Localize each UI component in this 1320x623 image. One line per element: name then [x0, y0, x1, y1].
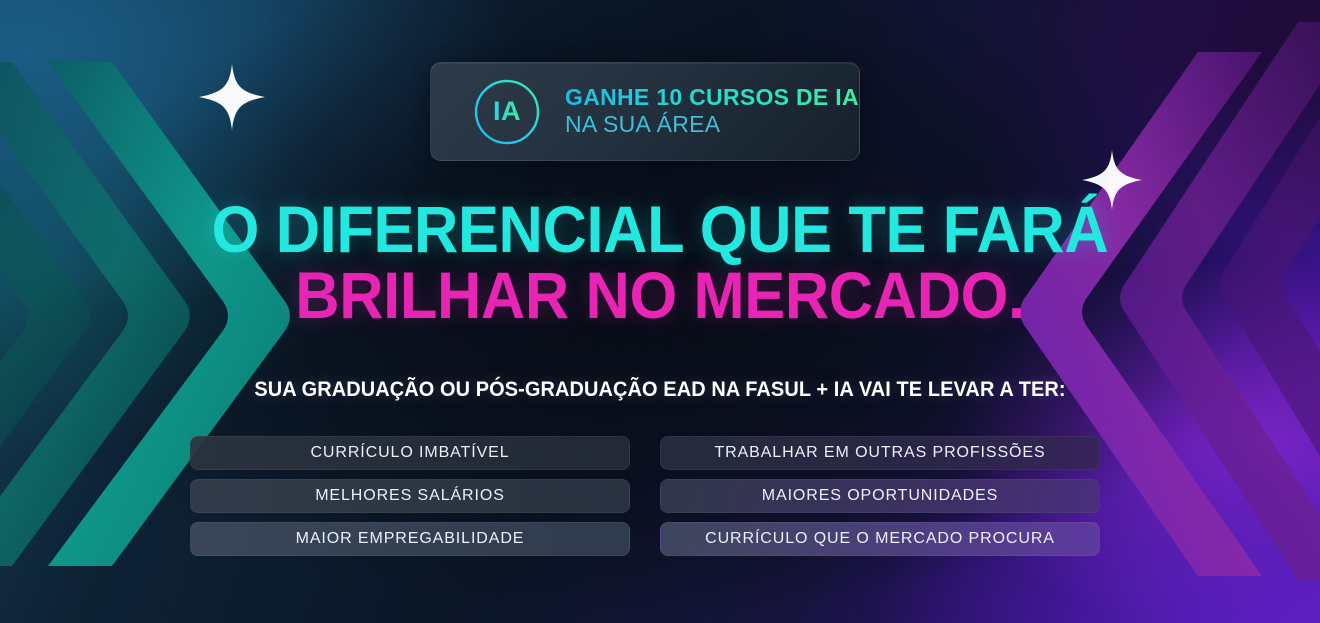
- ai-courses-badge[interactable]: IA GANHE 10 CURSOS DE IA NA SUA ÁREA: [430, 62, 860, 161]
- badge-subline: NA SUA ÁREA: [565, 113, 859, 137]
- benefits-grid: CURRÍCULO IMBATÍVEL TRABALHAR EM OUTRAS …: [190, 436, 1100, 556]
- subheading: SUA GRADUAÇÃO OU PÓS-GRADUAÇÃO EAD NA FA…: [33, 378, 1287, 402]
- headline-line-1: O DIFERENCIAL QUE TE FARÁ: [46, 198, 1274, 260]
- sparkle-star-icon: [197, 62, 267, 137]
- headline-block: O DIFERENCIAL QUE TE FARÁ BRILHAR NO MER…: [0, 198, 1320, 326]
- badge-headline: GANHE 10 CURSOS DE IA: [565, 86, 859, 110]
- badge-text-block: GANHE 10 CURSOS DE IA NA SUA ÁREA: [565, 86, 859, 137]
- headline-line-2: BRILHAR NO MERCADO.: [46, 264, 1274, 326]
- promo-banner: IA GANHE 10 CURSOS DE IA NA SUA ÁREA O D…: [0, 0, 1320, 623]
- benefit-pill[interactable]: CURRÍCULO IMBATÍVEL: [190, 436, 630, 470]
- benefit-pill[interactable]: TRABALHAR EM OUTRAS PROFISSÕES: [660, 436, 1100, 470]
- benefit-pill[interactable]: CURRÍCULO QUE O MERCADO PROCURA: [660, 522, 1100, 556]
- benefit-pill[interactable]: MAIORES OPORTUNIDADES: [660, 479, 1100, 513]
- ia-circle-icon: IA: [473, 78, 541, 146]
- benefit-pill[interactable]: MAIOR EMPREGABILIDADE: [190, 522, 630, 556]
- ia-label: IA: [493, 96, 521, 127]
- benefit-pill[interactable]: MELHORES SALÁRIOS: [190, 479, 630, 513]
